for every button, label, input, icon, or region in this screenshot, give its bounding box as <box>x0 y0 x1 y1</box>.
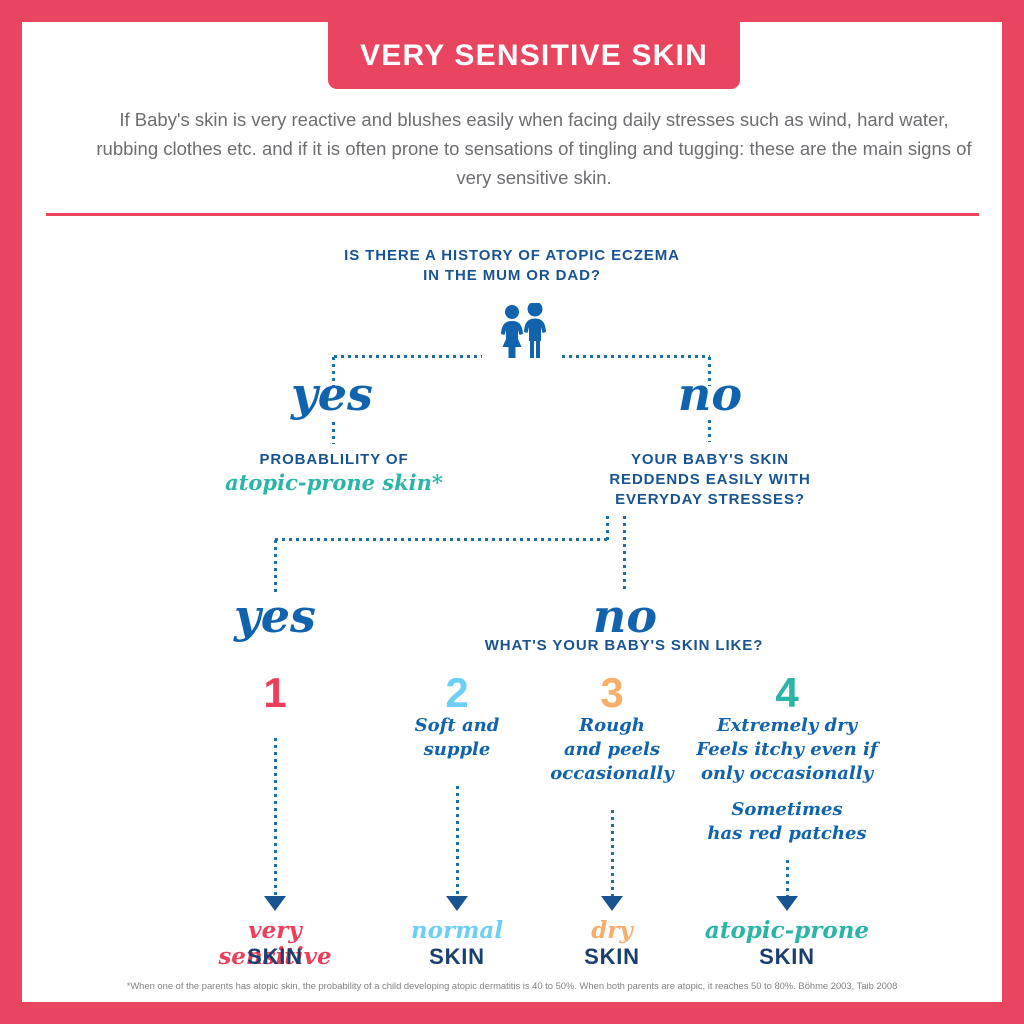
connector-level1-right-horizontal <box>562 355 710 358</box>
page-title: VERY SENSITIVE SKIN <box>360 39 708 73</box>
arrow-outcome-1 <box>264 896 286 911</box>
outcome-description-2: Soft and supple <box>385 714 529 762</box>
question-2-line-1: YOUR BABY'S SKIN <box>588 450 832 470</box>
outcome-number-1: 1 <box>215 672 335 714</box>
outcome-number-4: 4 <box>727 672 847 714</box>
arrow-outcome-3 <box>601 896 623 911</box>
outcome-description-2-line-2: supple <box>385 738 529 762</box>
outcome-description-4-line-2: Feels itchy even if <box>690 738 884 762</box>
outcome-description-4-line-6: has red patches <box>690 822 884 846</box>
outcome-description-4-line-1: Extremely dry <box>690 714 884 738</box>
outcome-description-4-line-5: Sometimes <box>690 798 884 822</box>
outcome-number-3: 3 <box>552 672 672 714</box>
question-1-line-2: IN THE MUM OR DAD? <box>262 266 762 286</box>
connector-outcome-2 <box>456 786 459 898</box>
result-skin-2: SKIN <box>372 944 542 970</box>
question-2-line-3: EVERYDAY STRESSES? <box>588 490 832 510</box>
connector-q2-left-down <box>606 516 609 540</box>
branch-1-no-label: no <box>650 370 770 418</box>
atopic-prone-skin-script: atopic-prone skin* <box>212 470 456 495</box>
outcome-number-2: 2 <box>397 672 517 714</box>
question-2: YOUR BABY'S SKIN REDDENDS EASILY WITH EV… <box>588 450 832 510</box>
connector-outcome-3 <box>611 810 614 898</box>
result-script-3: dry <box>527 918 697 944</box>
result-skin-4: SKIN <box>692 944 882 970</box>
connector-q2-to-yes-horizontal <box>275 538 608 541</box>
branch-2-yes-label: yes <box>215 592 335 640</box>
question-2-line-2: REDDENDS EASILY WITH <box>588 470 832 490</box>
connector-level1-left-horizontal <box>334 355 482 358</box>
connector-outcome-4 <box>786 860 789 898</box>
section-divider <box>46 213 979 216</box>
title-banner: VERY SENSITIVE SKIN <box>328 22 740 89</box>
question-1-line-1: IS THERE A HISTORY OF ATOPIC ECZEMA <box>262 246 762 266</box>
connector-outcome-1 <box>274 738 277 898</box>
branch-1-yes-label: yes <box>272 370 392 418</box>
connector-yes1-stub <box>332 422 335 444</box>
probability-line-1: PROBABLILITY OF <box>212 450 456 470</box>
arrow-outcome-2 <box>446 896 468 911</box>
result-script-4: atopic-prone <box>692 918 882 944</box>
outcome-description-2-line-1: Soft and <box>385 714 529 738</box>
branch-2-no-label: no <box>565 592 685 640</box>
outcome-description-4-spacer <box>690 786 884 798</box>
connector-no1-stub <box>708 420 711 442</box>
outcome-description-4-line-3: only occasionally <box>690 762 884 786</box>
result-skin-1: SKIN <box>190 944 360 970</box>
outcome-description-3: Rough and peels occasionally <box>534 714 690 786</box>
arrow-outcome-4 <box>776 896 798 911</box>
parents-icon <box>490 303 554 359</box>
footnote: *When one of the parents has atopic skin… <box>70 980 954 992</box>
result-skin-3: SKIN <box>527 944 697 970</box>
outcome-description-3-line-1: Rough <box>534 714 690 738</box>
infographic-canvas: VERY SENSITIVE SKIN If Baby's skin is ve… <box>22 22 1002 1002</box>
atopic-prone-probability-label: PROBABLILITY OF <box>212 450 456 470</box>
outcome-description-4: Extremely dry Feels itchy even if only o… <box>690 714 884 846</box>
connector-q2-to-no-vertical <box>623 516 626 590</box>
connector-yes2-vertical <box>274 540 277 592</box>
outcome-description-3-line-2: and peels <box>534 738 690 762</box>
intro-paragraph: If Baby's skin is very reactive and blus… <box>92 105 976 192</box>
result-script-2: normal <box>372 918 542 944</box>
infographic-page: VERY SENSITIVE SKIN If Baby's skin is ve… <box>0 0 1024 1024</box>
question-3: WHAT'S YOUR BABY'S SKIN LIKE? <box>422 636 826 656</box>
question-1: IS THERE A HISTORY OF ATOPIC ECZEMA IN T… <box>262 246 762 286</box>
outcome-description-3-line-3: occasionally <box>534 762 690 786</box>
